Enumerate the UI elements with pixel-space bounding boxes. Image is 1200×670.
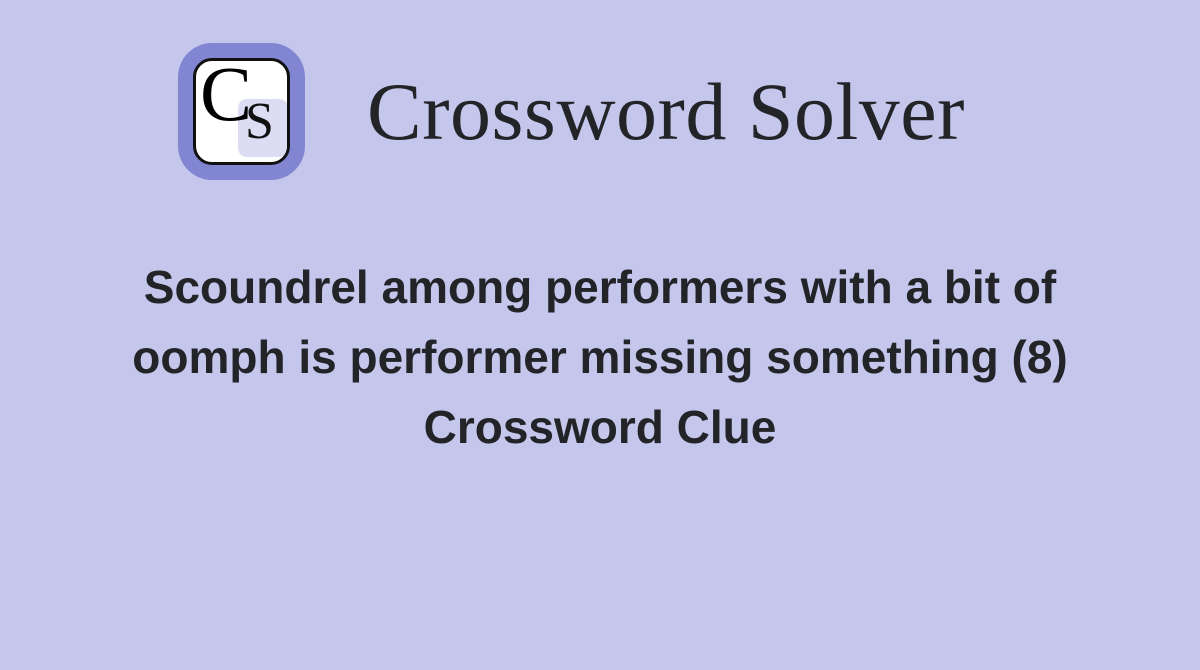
- page-root: C S Crossword Solver Scoundrel among per…: [0, 0, 1200, 670]
- site-title[interactable]: Crossword Solver: [367, 71, 965, 153]
- logo-inner-tile: C S: [193, 58, 290, 165]
- site-brand[interactable]: C S Crossword Solver: [178, 43, 965, 180]
- clue-label: Crossword Clue: [100, 392, 1100, 462]
- page-title: Scoundrel among performers with a bit of…: [100, 252, 1100, 462]
- clue-question-text: Scoundrel among performers with a bit of…: [132, 261, 1067, 383]
- logo-letter-s: S: [245, 96, 274, 148]
- crossword-solver-logo-icon[interactable]: C S: [178, 43, 305, 180]
